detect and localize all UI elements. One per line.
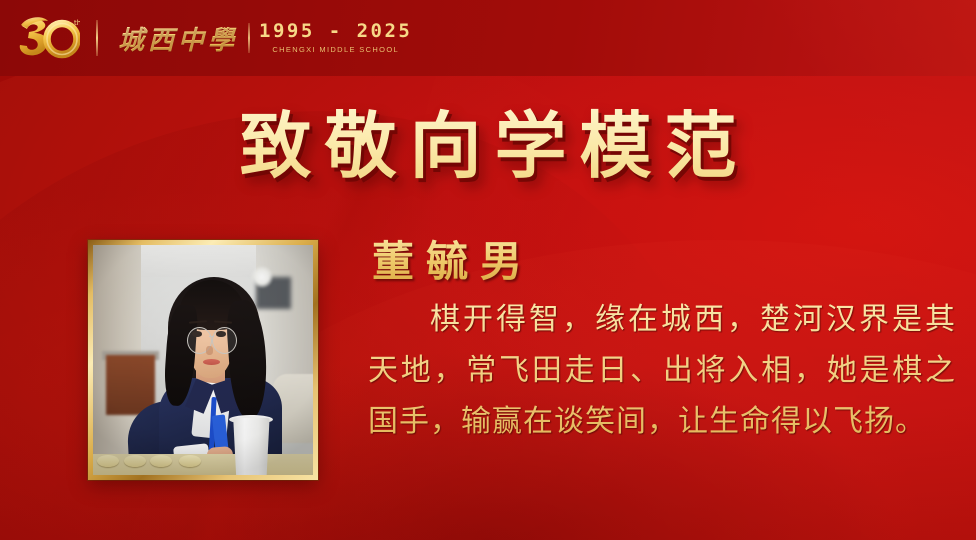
slide-canvas: th 城西中學 1995 - 2025 CHENGXI MIDDLE SCHOO… — [0, 0, 976, 540]
brand-divider-2 — [248, 23, 250, 53]
page-title: 致敬向学模范 — [0, 108, 976, 186]
anniversary-years: 1995 - 2025 — [259, 22, 412, 41]
school-name-en: CHENGXI MIDDLE SCHOOL — [259, 45, 412, 54]
anniversary-years-block: 1995 - 2025 CHENGXI MIDDLE SCHOOL — [259, 22, 412, 54]
school-brand-lockup: th 城西中學 1995 - 2025 CHENGXI MIDDLE SCHOO… — [18, 0, 412, 76]
person-bio-text: 棋开得智，缘在城西，楚河汉界是其天地，常飞田走日、出将入相，她是棋之国手，输赢在… — [368, 294, 956, 447]
header-bar: th 城西中學 1995 - 2025 CHENGXI MIDDLE SCHOO… — [0, 0, 976, 76]
brand-divider — [96, 20, 98, 56]
person-name: 董毓男 — [372, 228, 534, 289]
anniversary-30-logo-icon: th — [18, 14, 80, 62]
svg-text:th: th — [74, 19, 80, 27]
portrait-photo-frame — [88, 240, 318, 480]
portrait-photo — [93, 245, 313, 475]
school-name-cn: 城西中學 — [118, 20, 238, 57]
